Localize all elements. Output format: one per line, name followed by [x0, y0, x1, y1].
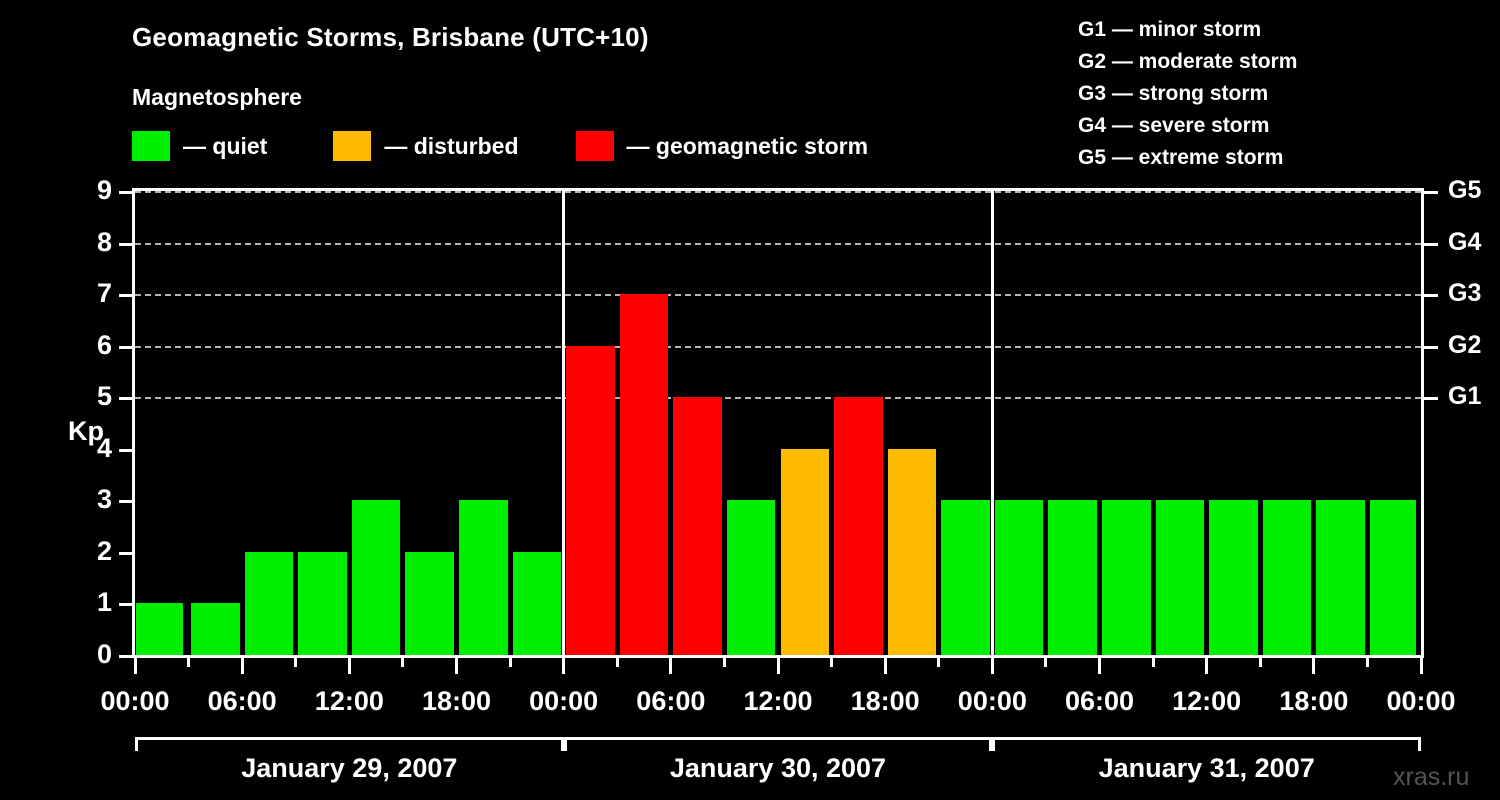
x-tick-minor — [830, 658, 833, 667]
y-tick-label: 5 — [72, 383, 112, 410]
x-tick-label: 18:00 — [1279, 686, 1348, 717]
legend: — quiet — disturbed — geomagnetic storm — [132, 131, 868, 161]
y-tick-label: 3 — [72, 486, 112, 513]
day-separator — [562, 191, 565, 655]
x-tick-minor — [401, 658, 404, 667]
x-tick-minor — [937, 658, 940, 667]
y-tick — [119, 191, 133, 194]
x-tick-minor — [509, 658, 512, 667]
bar-quiet[interactable] — [995, 500, 1044, 655]
g-tick-label: G4 — [1448, 230, 1481, 255]
date-bracket — [564, 737, 993, 751]
x-tick-label: 18:00 — [422, 686, 491, 717]
x-tick-minor — [1152, 658, 1155, 667]
x-tick-label: 12:00 — [743, 686, 812, 717]
bar-storm[interactable] — [566, 346, 615, 655]
y-tick — [119, 243, 133, 246]
g-tick — [1424, 397, 1438, 400]
g-scale-row: G3 — strong storm — [1078, 78, 1297, 110]
x-tick-label: 00:00 — [1386, 686, 1455, 717]
g-tick — [1424, 191, 1438, 194]
x-tick-minor — [294, 658, 297, 667]
g-tick-label: G3 — [1448, 281, 1481, 306]
date-band-label: January 29, 2007 — [135, 753, 564, 784]
x-tick-major — [777, 658, 780, 674]
x-tick-label: 18:00 — [851, 686, 920, 717]
bar-quiet[interactable] — [941, 500, 990, 655]
x-tick-label: 12:00 — [1172, 686, 1241, 717]
date-bracket — [992, 737, 1421, 751]
plot-inner — [135, 191, 1421, 655]
bar-storm[interactable] — [834, 397, 883, 655]
x-tick-major — [241, 658, 244, 674]
g-scale-row: G5 — extreme storm — [1078, 142, 1297, 174]
y-tick — [119, 552, 133, 555]
bar-quiet[interactable] — [1316, 500, 1365, 655]
bar-quiet[interactable] — [1370, 500, 1417, 655]
y-tick-label: 4 — [72, 435, 112, 462]
x-tick-label: 06:00 — [636, 686, 705, 717]
y-tick — [119, 294, 133, 297]
x-tick-major — [455, 658, 458, 674]
bar-series — [135, 191, 1421, 655]
x-tick-major — [562, 658, 565, 674]
bar-storm[interactable] — [673, 397, 722, 655]
y-tick-label: 7 — [72, 280, 112, 307]
x-tick-minor — [1259, 658, 1262, 667]
bar-quiet[interactable] — [727, 500, 776, 655]
x-tick-major — [1098, 658, 1101, 674]
bar-quiet[interactable] — [352, 500, 401, 655]
bar-disturbed[interactable] — [888, 449, 937, 655]
legend-label-storm: — geomagnetic storm — [627, 133, 869, 160]
x-tick-major — [1420, 658, 1423, 674]
legend-item-disturbed: — disturbed — [333, 131, 518, 161]
bar-quiet[interactable] — [191, 603, 240, 655]
g-tick-label: G5 — [1448, 178, 1481, 203]
g-scale-row: G4 — severe storm — [1078, 110, 1297, 142]
plot-area — [132, 188, 1424, 658]
x-tick-major — [134, 658, 137, 674]
bar-quiet[interactable] — [459, 500, 508, 655]
y-tick-label: 0 — [72, 641, 112, 668]
g-tick-label: G1 — [1448, 384, 1481, 409]
legend-label-disturbed: — disturbed — [384, 133, 518, 160]
bar-quiet[interactable] — [1048, 500, 1097, 655]
x-tick-label: 00:00 — [100, 686, 169, 717]
bar-quiet[interactable] — [298, 552, 347, 655]
g-tick-label: G2 — [1448, 333, 1481, 358]
y-tick-label: 8 — [72, 229, 112, 256]
x-tick-major — [348, 658, 351, 674]
y-tick — [119, 346, 133, 349]
g-scale-row: G1 — minor storm — [1078, 14, 1297, 46]
g-scale-legend: G1 — minor storm G2 — moderate storm G3 … — [1078, 14, 1297, 174]
legend-item-storm: — geomagnetic storm — [576, 131, 869, 161]
bar-quiet[interactable] — [136, 603, 183, 655]
legend-label-quiet: — quiet — [183, 133, 267, 160]
x-tick-label: 00:00 — [529, 686, 598, 717]
legend-swatch-storm-icon — [576, 131, 614, 161]
legend-item-quiet: — quiet — [132, 131, 267, 161]
x-tick-major — [669, 658, 672, 674]
date-band-label: January 30, 2007 — [564, 753, 993, 784]
watermark: xras.ru — [1393, 763, 1469, 792]
y-tick — [119, 397, 133, 400]
bar-quiet[interactable] — [1263, 500, 1312, 655]
y-tick-label: 2 — [72, 538, 112, 565]
legend-swatch-quiet-icon — [132, 131, 170, 161]
x-tick-label: 06:00 — [1065, 686, 1134, 717]
y-tick-label: 1 — [72, 589, 112, 616]
x-tick-label: 00:00 — [958, 686, 1027, 717]
y-tick — [119, 500, 133, 503]
bar-quiet[interactable] — [245, 552, 294, 655]
y-tick-label: 9 — [72, 177, 112, 204]
x-tick-major — [991, 658, 994, 674]
bar-quiet[interactable] — [1102, 500, 1151, 655]
x-tick-major — [1312, 658, 1315, 674]
bar-quiet[interactable] — [1209, 500, 1258, 655]
date-bracket — [135, 737, 564, 751]
g-tick — [1424, 243, 1438, 246]
x-tick-major — [1205, 658, 1208, 674]
bar-quiet[interactable] — [1156, 500, 1205, 655]
x-tick-label: 12:00 — [315, 686, 384, 717]
x-tick-minor — [1044, 658, 1047, 667]
legend-heading: Magnetosphere — [132, 84, 302, 111]
y-tick — [119, 603, 133, 606]
bar-storm[interactable] — [620, 294, 669, 655]
y-tick — [119, 655, 133, 658]
bar-quiet[interactable] — [405, 552, 454, 655]
g-tick — [1424, 294, 1438, 297]
day-separator — [991, 191, 994, 655]
legend-swatch-disturbed-icon — [333, 131, 371, 161]
x-tick-minor — [616, 658, 619, 667]
x-tick-minor — [723, 658, 726, 667]
x-tick-label: 06:00 — [208, 686, 277, 717]
x-tick-minor — [187, 658, 190, 667]
page-title: Geomagnetic Storms, Brisbane (UTC+10) — [132, 22, 649, 53]
y-tick — [119, 449, 133, 452]
x-tick-minor — [1366, 658, 1369, 667]
bar-disturbed[interactable] — [781, 449, 830, 655]
x-tick-major — [884, 658, 887, 674]
y-tick-label: 6 — [72, 332, 112, 359]
date-band-label: January 31, 2007 — [992, 753, 1421, 784]
g-tick — [1424, 346, 1438, 349]
bar-quiet[interactable] — [513, 552, 562, 655]
g-scale-row: G2 — moderate storm — [1078, 46, 1297, 78]
